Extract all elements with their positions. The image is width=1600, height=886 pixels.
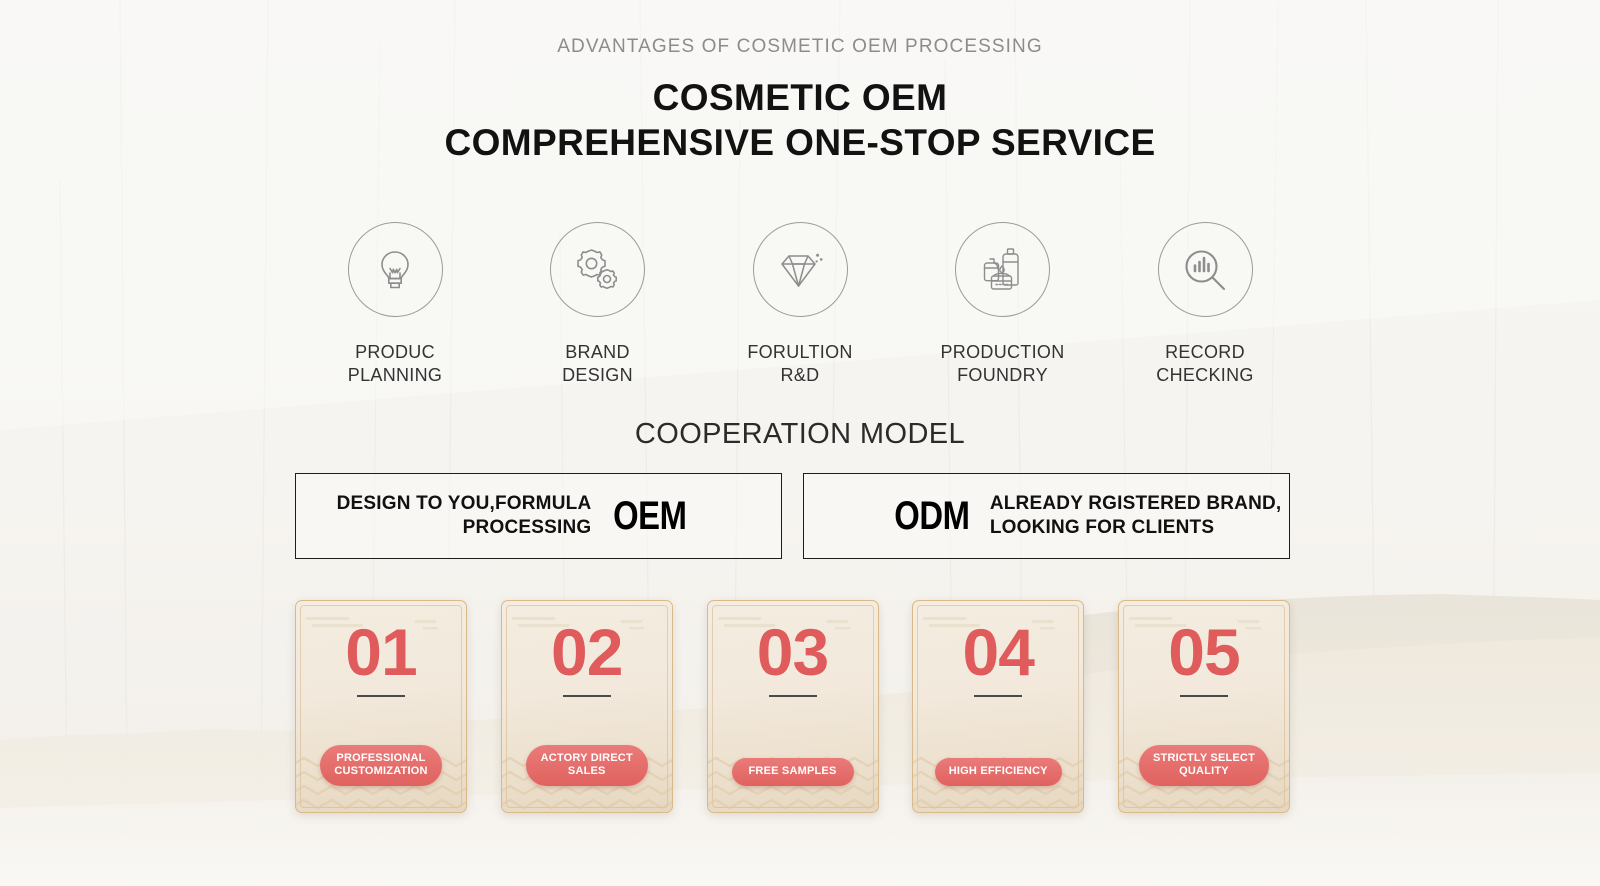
cooperation-box-oem[interactable]: DESIGN TO YOU,FORMULA PROCESSING OEM — [295, 473, 782, 559]
cooperation-desc: ALREADY RGISTERED BRAND, LOOKING FOR CLI… — [990, 492, 1282, 540]
feature-circle — [348, 222, 443, 317]
advantage-card[interactable]: 01 PROFESSIONAL CUSTOMIZATION — [295, 600, 467, 813]
card-number: 01 — [345, 619, 416, 685]
card-divider — [1180, 695, 1228, 697]
cosmetic-bottles-icon — [976, 243, 1030, 297]
feature-list: PRODUC PLANNING B — [300, 222, 1300, 386]
diamond-icon — [773, 243, 827, 297]
card-number: 05 — [1168, 619, 1239, 685]
feature-circle — [550, 222, 645, 317]
cooperation-boxes: DESIGN TO YOU,FORMULA PROCESSING OEM ODM… — [295, 473, 1290, 559]
cooperation-tag-oem: OEM — [613, 494, 686, 539]
magnifier-chart-icon — [1179, 244, 1231, 296]
feature-item-forultion-rd[interactable]: FORULTION R&D — [705, 222, 895, 386]
advantage-card[interactable]: 03 FREE SAMPLES — [707, 600, 879, 813]
card-badge[interactable]: FREE SAMPLES — [732, 758, 854, 786]
feature-circle — [1158, 222, 1253, 317]
feature-label: PRODUCTION FOUNDRY — [941, 341, 1065, 386]
advantage-card[interactable]: 05 STRICTLY SELECT QUALITY — [1118, 600, 1290, 813]
card-badge[interactable]: ACTORY DIRECT SALES — [526, 745, 648, 787]
feature-item-product-planning[interactable]: PRODUC PLANNING — [300, 222, 490, 386]
card-badge[interactable]: PROFESSIONAL CUSTOMIZATION — [320, 745, 442, 787]
feature-label: FORULTION R&D — [747, 341, 852, 386]
feature-item-production-foundry[interactable]: PRODUCTION FOUNDRY — [908, 222, 1098, 386]
cooperation-desc: DESIGN TO YOU,FORMULA PROCESSING — [337, 492, 592, 540]
feature-item-record-checking[interactable]: RECORD CHECKING — [1110, 222, 1300, 386]
page-header: ADVANTAGES OF COSMETIC OEM PROCESSING CO… — [0, 0, 1600, 165]
card-badge[interactable]: STRICTLY SELECT QUALITY — [1139, 745, 1269, 787]
gears-icon — [571, 243, 625, 297]
card-number: 02 — [551, 619, 622, 685]
advantage-card[interactable]: 04 HIGH EFFICIENCY — [912, 600, 1084, 813]
card-badge[interactable]: HIGH EFFICIENCY — [935, 758, 1062, 786]
feature-circle — [753, 222, 848, 317]
feature-label: PRODUC PLANNING — [348, 341, 442, 386]
feature-label: RECORD CHECKING — [1156, 341, 1253, 386]
lightbulb-icon — [369, 244, 421, 296]
card-divider — [357, 695, 405, 697]
feature-circle — [955, 222, 1050, 317]
feature-label: BRAND DESIGN — [562, 341, 633, 386]
feature-item-brand-design[interactable]: BRAND DESIGN — [503, 222, 693, 386]
cooperation-model-title: COOPERATION MODEL — [0, 418, 1600, 451]
page-title: COSMETIC OEM COMPREHENSIVE ONE-STOP SERV… — [0, 75, 1600, 165]
card-number: 03 — [757, 619, 828, 685]
title-line-2: COMPREHENSIVE ONE-STOP SERVICE — [0, 120, 1600, 165]
cooperation-box-odm[interactable]: ODM ALREADY RGISTERED BRAND, LOOKING FOR… — [803, 473, 1290, 559]
card-divider — [974, 695, 1022, 697]
eyebrow-text: ADVANTAGES OF COSMETIC OEM PROCESSING — [0, 36, 1600, 59]
title-line-1: COSMETIC OEM — [0, 75, 1600, 120]
advantage-card-list: 01 PROFESSIONAL CUSTOMIZATION — [295, 600, 1290, 813]
card-number: 04 — [963, 619, 1034, 685]
card-divider — [769, 695, 817, 697]
card-divider — [563, 695, 611, 697]
advantage-card[interactable]: 02 ACTORY DIRECT SALES — [501, 600, 673, 813]
cooperation-tag-odm: ODM — [894, 494, 969, 539]
